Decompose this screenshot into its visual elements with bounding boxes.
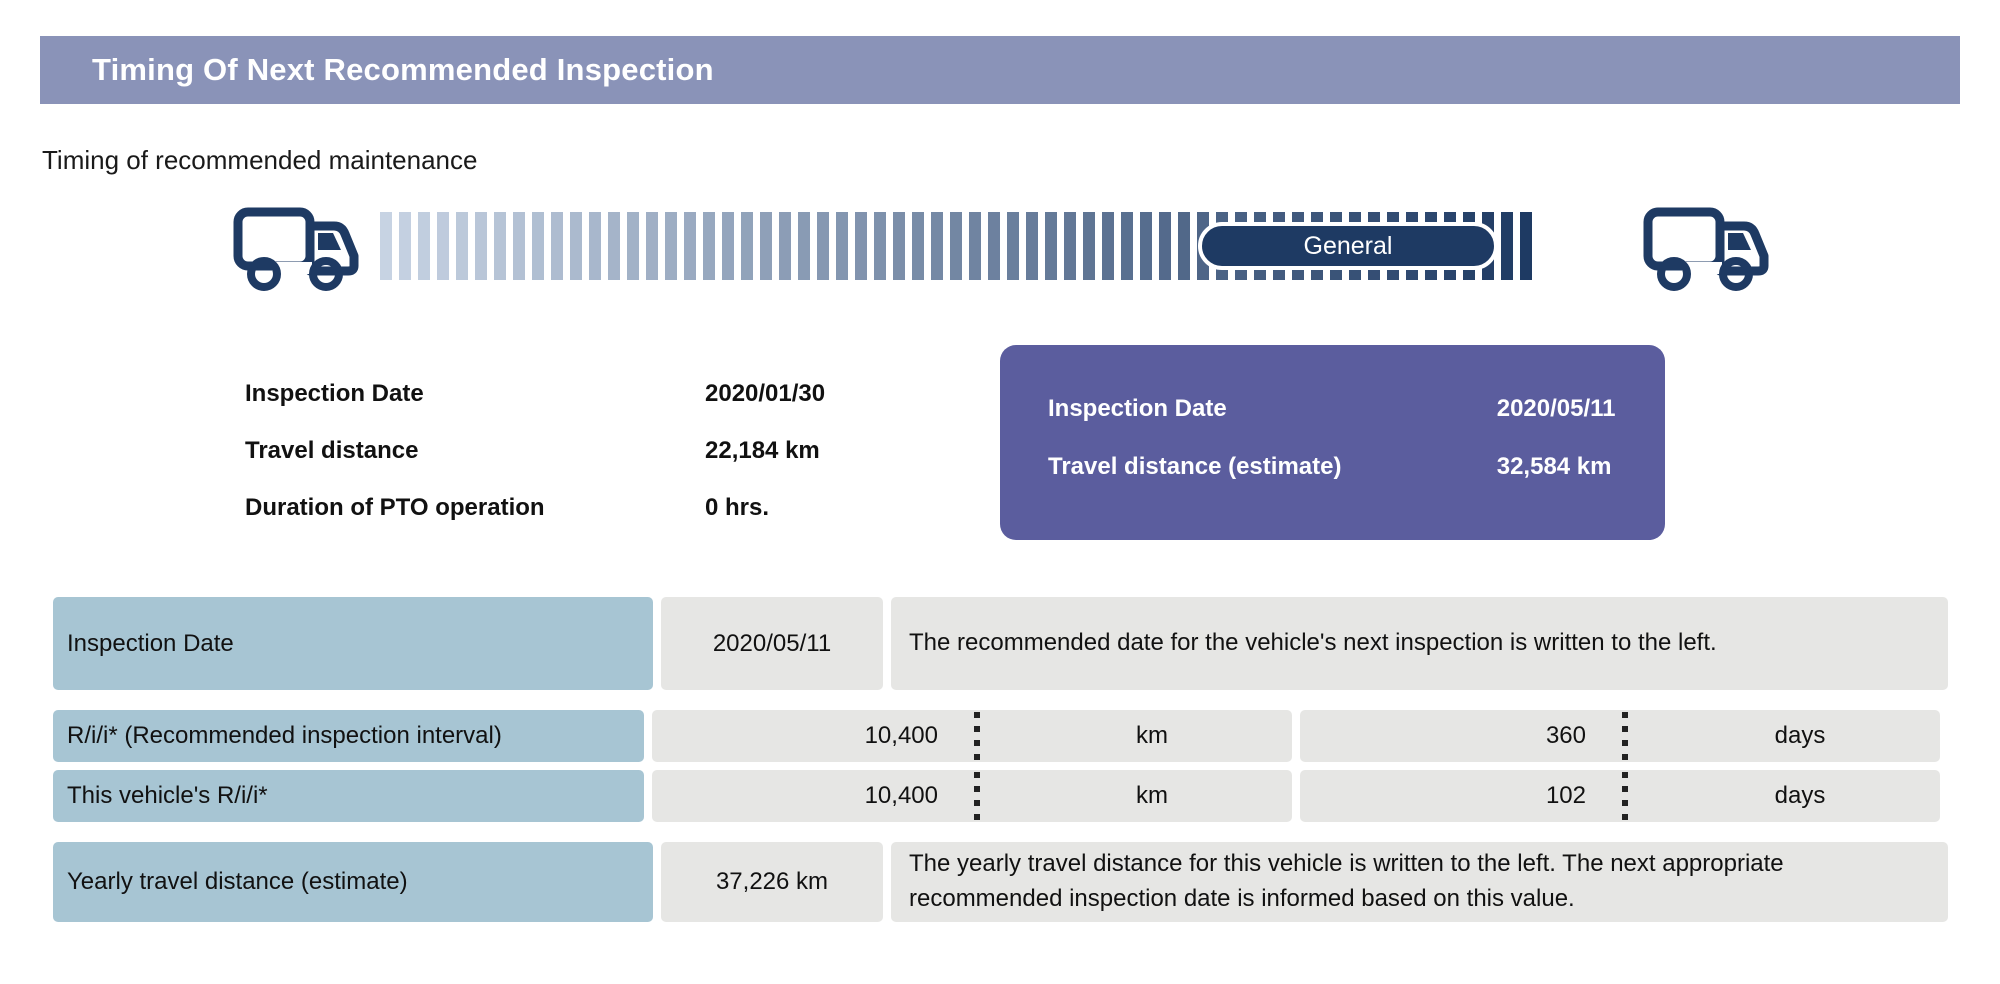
progress-stripe [437, 212, 449, 280]
progress-stripe [589, 212, 601, 280]
page-header-banner: Timing Of Next Recommended Inspection [40, 36, 1960, 104]
progress-stripe [1140, 212, 1152, 280]
progress-stripe [817, 212, 829, 280]
distance-value: 10,400 [652, 722, 942, 750]
table-row: Inspection Date 2020/05/11 The recommend… [53, 597, 1948, 690]
truck-icon [230, 200, 370, 295]
stat-value: 2020/01/30 [705, 380, 945, 408]
progress-stripe [1178, 212, 1190, 280]
progress-stripe [513, 212, 525, 280]
table-row-value: 37,226 km [661, 842, 883, 922]
stat-value: 0 hrs. [705, 494, 945, 522]
card-label: Inspection Date [1048, 395, 1497, 423]
days-value: 360 [1300, 722, 1590, 750]
progress-stripe [836, 212, 848, 280]
progress-stripe [950, 212, 962, 280]
distance-unit: km [1012, 722, 1292, 750]
truck-icon [1640, 200, 1780, 295]
dotted-separator-icon [1590, 712, 1660, 760]
table-row-label: Inspection Date [53, 597, 653, 690]
distance-unit: km [1012, 782, 1292, 810]
progress-stripe [703, 212, 715, 280]
inspection-info-table: Inspection Date 2020/05/11 The recommend… [53, 597, 1948, 930]
table-days-pair: 102 days [1300, 770, 1940, 822]
distance-value: 10,400 [652, 782, 942, 810]
progress-stripe [760, 212, 772, 280]
row-spacer [53, 698, 1948, 710]
inspection-timeline: General [230, 190, 1780, 305]
progress-stripe [893, 212, 905, 280]
progress-stripe [608, 212, 620, 280]
stat-value: 22,184 km [705, 437, 945, 465]
progress-stripe [1083, 212, 1095, 280]
progress-stripe [969, 212, 981, 280]
table-row: This vehicle's R/i/i* 10,400 km 102 days [53, 770, 1948, 822]
progress-stripe [570, 212, 582, 280]
progress-stripe [1026, 212, 1038, 280]
progress-stripe [475, 212, 487, 280]
stat-label: Duration of PTO operation [245, 494, 705, 522]
table-row: R/i/i* (Recommended inspection interval)… [53, 710, 1948, 762]
table-row-label: This vehicle's R/i/i* [53, 770, 644, 822]
progress-stripe [874, 212, 886, 280]
progress-stripe [456, 212, 468, 280]
progress-stripe [1501, 212, 1513, 280]
progress-stripe [494, 212, 506, 280]
last-inspection-stats: Inspection Date 2020/01/30 Travel distan… [245, 365, 945, 536]
progress-stripe [931, 212, 943, 280]
table-row-label: Yearly travel distance (estimate) [53, 842, 653, 922]
days-value: 102 [1300, 782, 1590, 810]
general-marker-pill[interactable]: General [1198, 222, 1498, 270]
stat-row: Travel distance 22,184 km [245, 422, 945, 479]
progress-stripe [380, 212, 392, 280]
table-row-value: 2020/05/11 [661, 597, 883, 690]
dotted-separator-icon [942, 772, 1012, 820]
row-spacer [53, 830, 1948, 842]
table-distance-pair: 10,400 km [652, 710, 1292, 762]
progress-stripe [798, 212, 810, 280]
progress-stripe [722, 212, 734, 280]
progress-stripe [684, 212, 696, 280]
progress-stripe [912, 212, 924, 280]
progress-stripe [418, 212, 430, 280]
card-label: Travel distance (estimate) [1048, 453, 1497, 481]
progress-stripe [665, 212, 677, 280]
table-row-description: The yearly travel distance for this vehi… [891, 842, 1948, 922]
table-row: Yearly travel distance (estimate) 37,226… [53, 842, 1948, 922]
progress-stripe [1520, 212, 1532, 280]
progress-stripe [399, 212, 411, 280]
card-row: Travel distance (estimate) 32,584 km [1000, 453, 1665, 481]
progress-stripe [532, 212, 544, 280]
page-title: Timing Of Next Recommended Inspection [92, 52, 714, 88]
progress-stripe [741, 212, 753, 280]
progress-stripe [1045, 212, 1057, 280]
table-row-description: The recommended date for the vehicle's n… [891, 597, 1948, 690]
card-row: Inspection Date 2020/05/11 [1000, 395, 1665, 423]
next-inspection-estimate-card: Inspection Date 2020/05/11 Travel distan… [1000, 345, 1665, 540]
days-unit: days [1660, 722, 1940, 750]
subtitle-text: Timing of recommended maintenance [42, 145, 477, 176]
progress-stripe [1102, 212, 1114, 280]
progress-stripe [988, 212, 1000, 280]
card-value: 2020/05/11 [1497, 395, 1665, 423]
table-days-pair: 360 days [1300, 710, 1940, 762]
progress-stripe [1159, 212, 1171, 280]
table-row-label: R/i/i* (Recommended inspection interval) [53, 710, 644, 762]
general-marker-label: General [1304, 232, 1393, 261]
progress-stripe [627, 212, 639, 280]
progress-stripe [1121, 212, 1133, 280]
progress-stripe [779, 212, 791, 280]
progress-stripe [1007, 212, 1019, 280]
progress-stripe [646, 212, 658, 280]
stat-row: Duration of PTO operation 0 hrs. [245, 479, 945, 536]
dotted-separator-icon [942, 712, 1012, 760]
table-distance-pair: 10,400 km [652, 770, 1292, 822]
progress-stripe [551, 212, 563, 280]
dotted-separator-icon [1590, 772, 1660, 820]
stat-label: Travel distance [245, 437, 705, 465]
stat-row: Inspection Date 2020/01/30 [245, 365, 945, 422]
progress-stripe [855, 212, 867, 280]
maintenance-progress-bar: General [380, 212, 1550, 280]
stat-label: Inspection Date [245, 380, 705, 408]
card-value: 32,584 km [1497, 453, 1665, 481]
progress-stripe [1064, 212, 1076, 280]
days-unit: days [1660, 782, 1940, 810]
